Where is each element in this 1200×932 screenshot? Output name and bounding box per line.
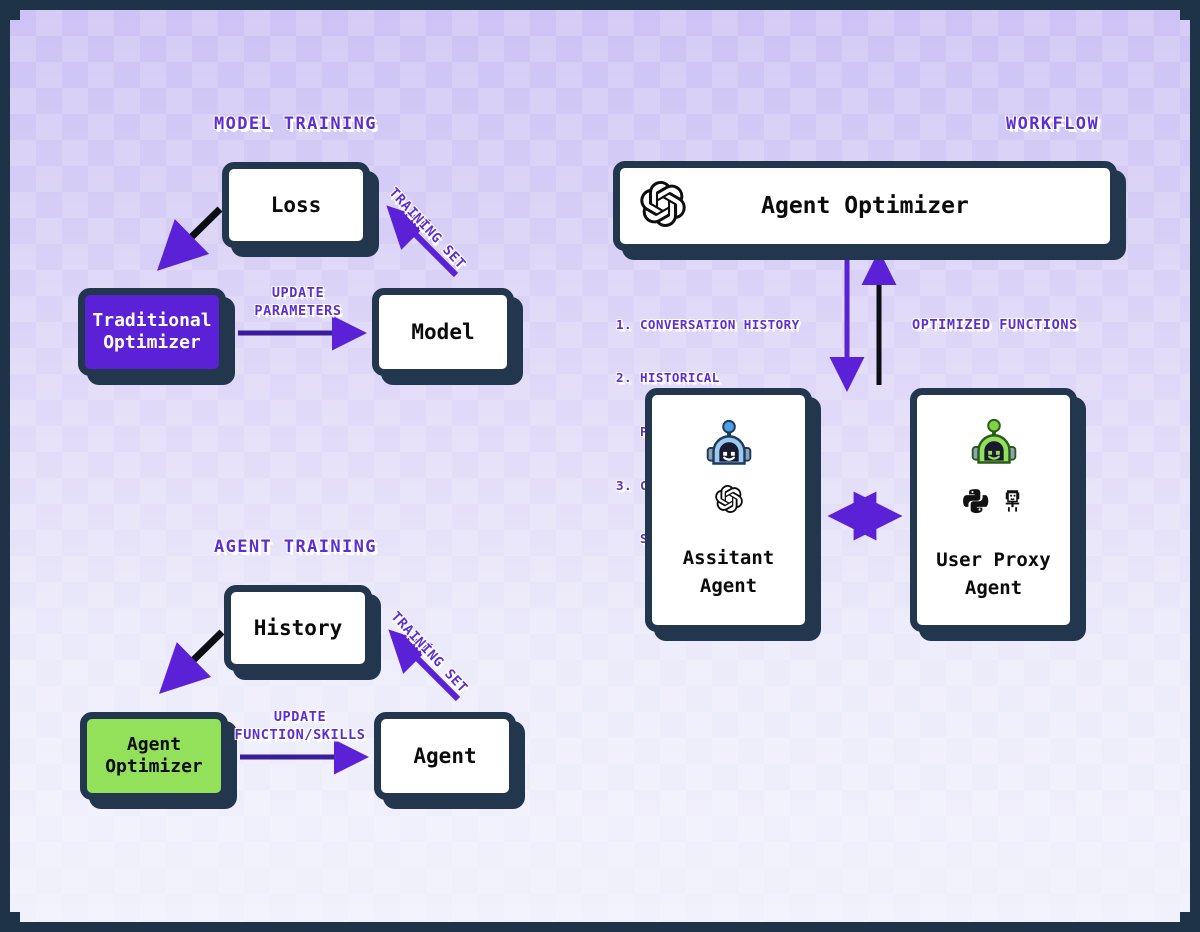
robot-blue-icon xyxy=(698,417,760,483)
diagram-root: MODEL TRAINING Loss Traditional Optimize… xyxy=(0,0,1200,932)
user-proxy-tools xyxy=(962,488,1026,519)
card-assistant-agent: Assitant Agent xyxy=(645,388,812,632)
box-workflow-agent-optimizer: Agent Optimizer xyxy=(613,161,1117,251)
box-workflow-agent-optimizer-label: Agent Optimizer xyxy=(755,190,975,223)
section-title-model-training: MODEL TRAINING xyxy=(214,114,377,134)
robot-green-icon xyxy=(963,416,1025,482)
box-history-label: History xyxy=(248,613,349,643)
python-logo-icon xyxy=(962,488,989,519)
workflow-input-item: 2. HISTORICAL xyxy=(616,369,800,387)
frame-corner-bottom-right-b xyxy=(1190,904,1200,932)
card-user-proxy-agent: User Proxy Agent xyxy=(910,388,1077,632)
user-proxy-agent-art xyxy=(962,416,1026,519)
label-update-parameters: UPDATE PARAMETERS xyxy=(243,284,353,320)
box-agent-optimizer-label: Agent Optimizer xyxy=(99,732,209,781)
section-title-workflow: WORKFLOW xyxy=(1006,114,1099,134)
person-icon xyxy=(999,488,1026,519)
frame-corner-top-left-step xyxy=(10,10,20,20)
label-optimized-functions: OPTIMIZED FUNCTIONS xyxy=(912,316,1078,334)
frame-corner-top-right-step xyxy=(1180,10,1190,20)
openai-logo-icon xyxy=(640,181,686,231)
box-agent: Agent xyxy=(374,712,516,800)
frame-corner-bottom-right-step xyxy=(1180,912,1190,922)
assistant-agent-art xyxy=(698,417,760,517)
box-agent-label: Agent xyxy=(407,741,482,771)
box-loss: Loss xyxy=(222,162,370,248)
box-agent-optimizer: Agent Optimizer xyxy=(80,712,228,800)
card-assistant-agent-label: Assitant Agent xyxy=(677,543,781,602)
box-traditional-optimizer-label: Traditional Optimizer xyxy=(86,308,217,357)
workflow-input-item: 1. CONVERSATION HISTORY xyxy=(616,316,800,334)
label-update-function-skills: UPDATE FUNCTION/SKILLS xyxy=(232,708,368,744)
box-model: Model xyxy=(372,288,514,376)
box-model-label: Model xyxy=(405,317,480,347)
section-title-agent-training: AGENT TRAINING xyxy=(214,537,377,557)
frame-corner-top-left-b xyxy=(0,0,10,28)
frame-corner-top-right-b xyxy=(1190,0,1200,28)
card-user-proxy-agent-label: User Proxy Agent xyxy=(930,545,1056,604)
openai-logo-icon xyxy=(715,485,743,517)
box-loss-label: Loss xyxy=(265,190,328,220)
box-traditional-optimizer: Traditional Optimizer xyxy=(78,288,226,376)
frame-corner-bottom-left-step xyxy=(10,912,20,922)
frame-corner-bottom-left-b xyxy=(0,904,10,932)
box-history: History xyxy=(224,585,372,671)
